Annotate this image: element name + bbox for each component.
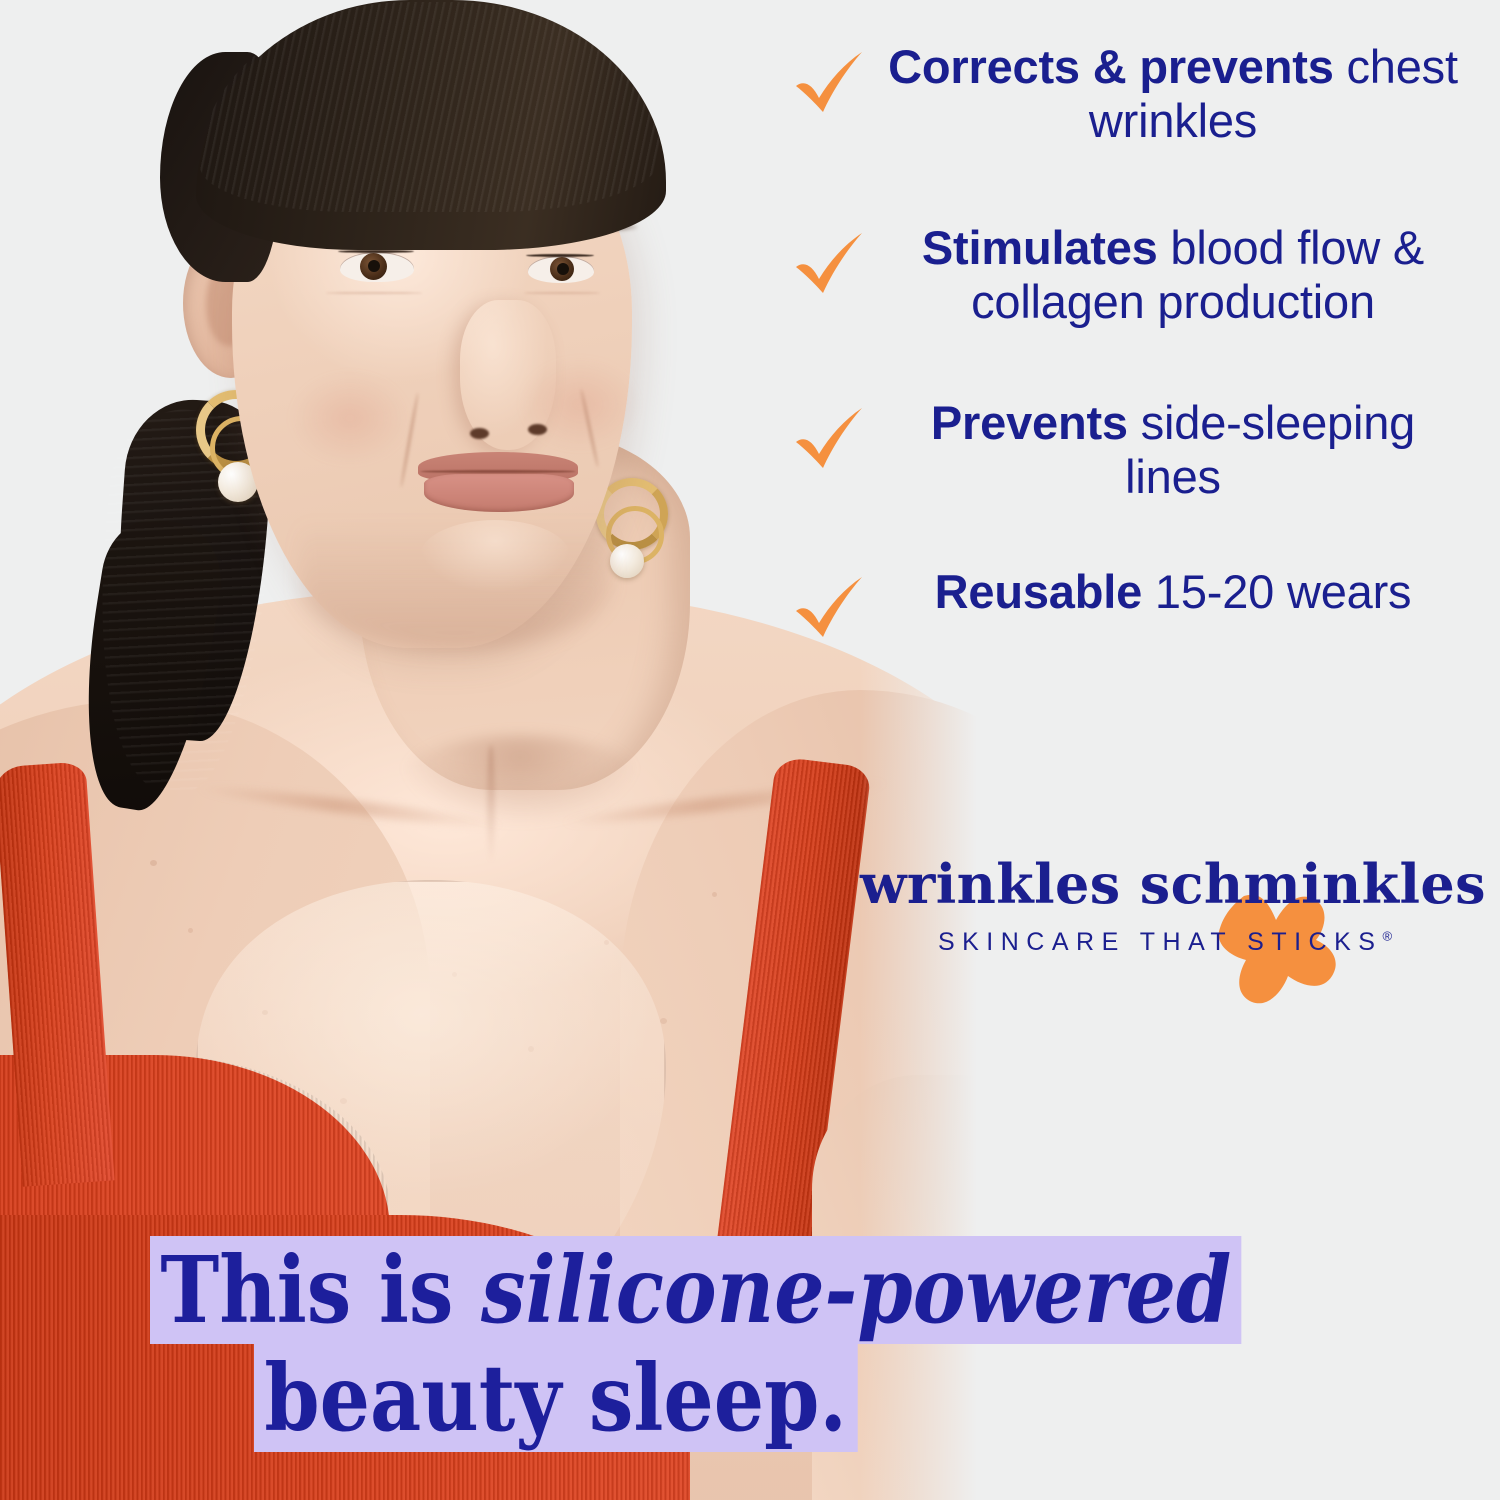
- benefit-text: Corrects & prevents chest wrinkles: [882, 40, 1480, 147]
- right-pupil: [557, 263, 569, 275]
- benefit-list: Corrects & prevents chest wrinkles Stimu…: [790, 40, 1480, 655]
- lip-line: [420, 470, 576, 473]
- brand-tagline-text: SKINCARE THAT STICKS: [938, 928, 1383, 956]
- benefit-bold: Prevents: [931, 396, 1128, 449]
- benefit-item: Reusable 15-20 wears: [790, 565, 1480, 649]
- headline-row-1: This is silicone-powered: [0, 1236, 1500, 1344]
- under-eye-line: [326, 292, 422, 294]
- right-eye: [528, 256, 594, 283]
- brand-wordmark: wrinkles schminkles: [860, 852, 1470, 916]
- headline-italic: silicone-powered: [481, 1236, 1231, 1344]
- benefit-rest: 15-20 wears: [1142, 565, 1411, 618]
- benefit-item: Stimulates blood flow & collagen product…: [790, 221, 1480, 328]
- lower-lip: [424, 474, 574, 512]
- left-eyelid: [338, 250, 414, 253]
- left-eye: [340, 252, 414, 282]
- check-icon: [790, 396, 882, 480]
- registered-mark: ®: [1382, 929, 1392, 944]
- brand-logo: wrinkles schminkles SKINCARE THAT STICKS…: [860, 852, 1470, 957]
- benefit-rest: side-sleeping lines: [1125, 396, 1415, 503]
- headline-plain: This is: [160, 1236, 481, 1344]
- left-nostril: [470, 428, 489, 439]
- right-eyelid: [526, 254, 594, 257]
- headline-row-2: beauty sleep.: [0, 1344, 1500, 1452]
- benefit-text: Reusable 15-20 wears: [882, 565, 1480, 619]
- brand-tagline: SKINCARE THAT STICKS®: [860, 928, 1470, 957]
- headline-line-2: beauty sleep.: [254, 1344, 857, 1452]
- skin-speckle: [712, 892, 717, 897]
- product-marketing-image: Corrects & prevents chest wrinkles Stimu…: [0, 0, 1500, 1500]
- chin: [420, 520, 570, 592]
- skin-speckle: [660, 1018, 667, 1024]
- check-icon: [790, 221, 882, 305]
- under-eye-line: [524, 292, 600, 294]
- sternum-line: [487, 745, 495, 865]
- right-nostril: [528, 424, 547, 435]
- benefit-bold: Reusable: [935, 565, 1142, 618]
- skin-speckle: [150, 860, 157, 866]
- check-icon: [790, 40, 882, 124]
- left-pupil: [368, 260, 380, 272]
- benefit-item: Corrects & prevents chest wrinkles: [790, 40, 1480, 147]
- headline-line-1: This is silicone-powered: [150, 1236, 1242, 1344]
- benefit-text: Stimulates blood flow & collagen product…: [882, 221, 1480, 328]
- benefit-item: Prevents side-sleeping lines: [790, 396, 1480, 503]
- left-cheek: [290, 372, 410, 464]
- headline-block: This is silicone-powered beauty sleep.: [0, 1236, 1500, 1452]
- benefit-bold: Stimulates: [922, 221, 1158, 274]
- benefit-bold: Corrects & prevents: [888, 40, 1333, 93]
- pearl-drop-earring-right: [610, 544, 644, 578]
- skin-speckle: [188, 928, 193, 933]
- check-icon: [790, 565, 882, 649]
- benefit-text: Prevents side-sleeping lines: [882, 396, 1480, 503]
